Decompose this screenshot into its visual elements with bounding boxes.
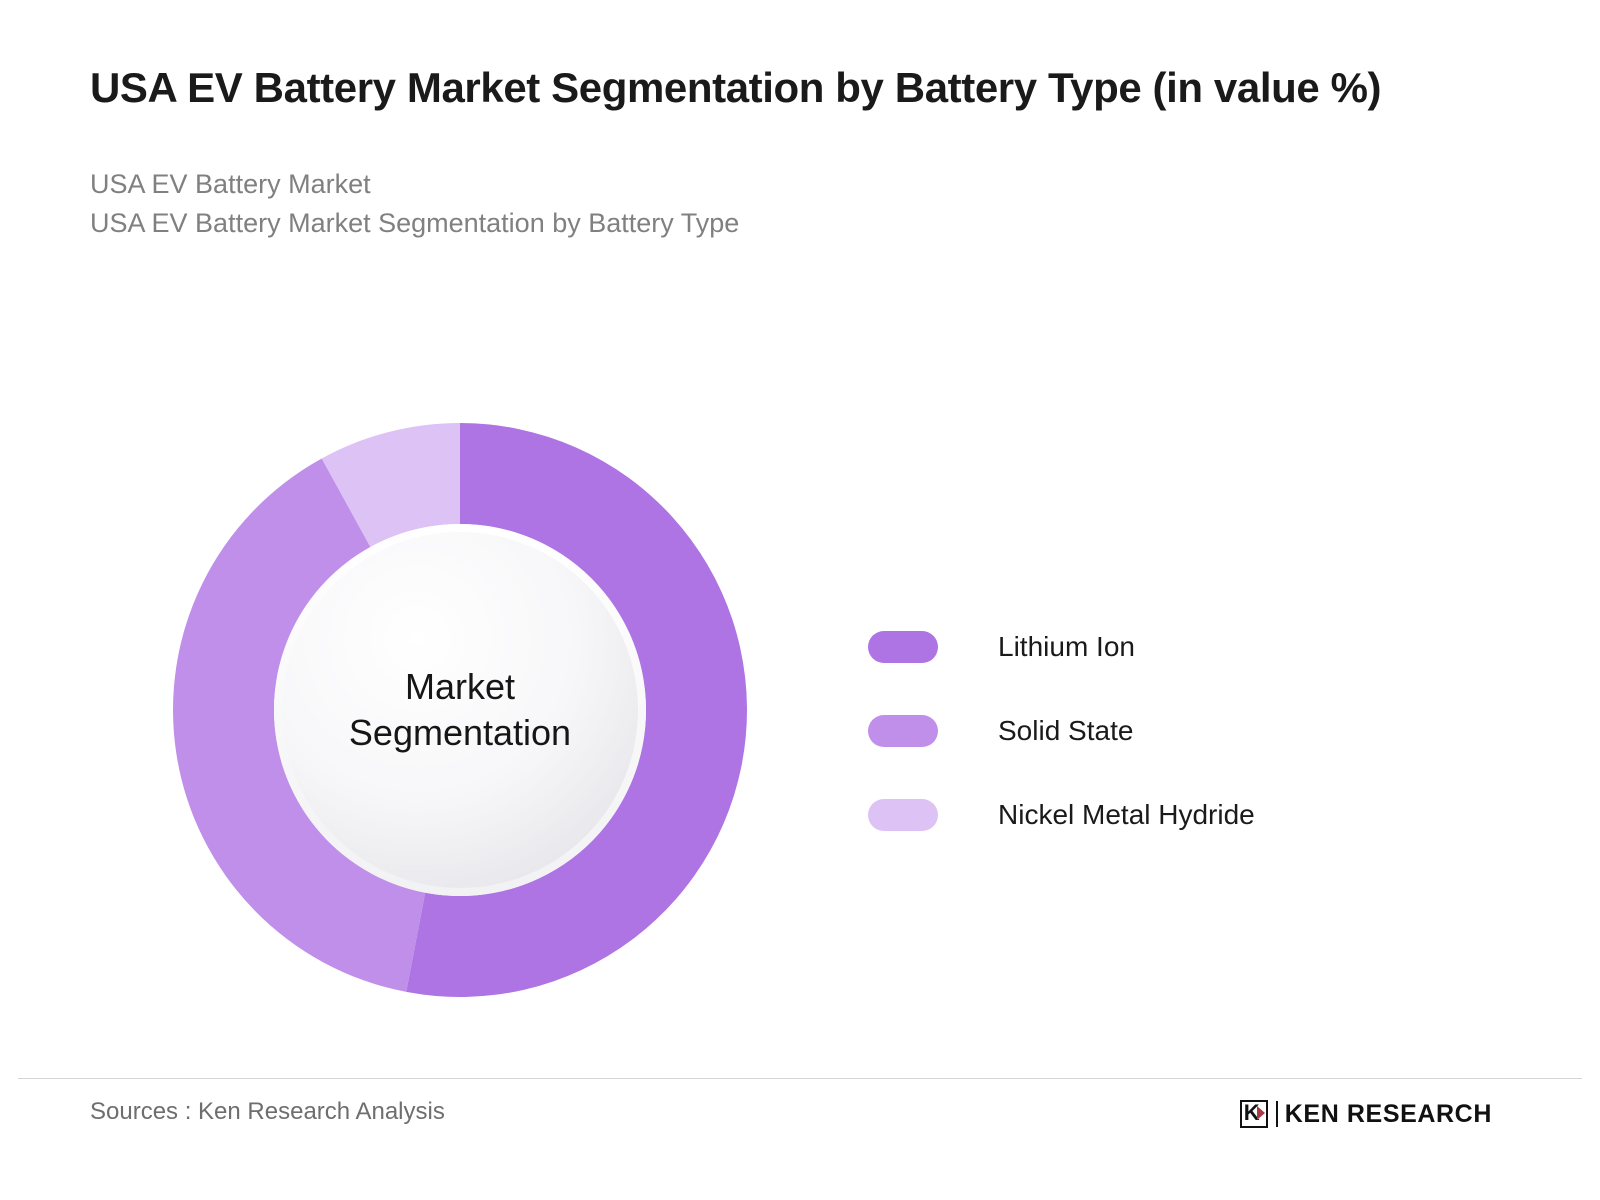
footer-sources: Sources : Ken Research Analysis (90, 1098, 445, 1126)
legend-label-nickel-metal-hydride: Nickel Metal Hydride (998, 799, 1255, 831)
ken-research-logo: K KEN RESEARCH (1240, 1098, 1492, 1130)
legend-label-lithium-ion: Lithium Ion (998, 631, 1135, 663)
subtitle-line-segmentation: USA EV Battery Market Segmentation by Ba… (90, 204, 1490, 242)
logo-wordmark: KEN RESEARCH (1285, 1100, 1492, 1129)
legend-swatch-lithium-ion (868, 631, 938, 663)
legend-label-solid-state: Solid State (998, 715, 1133, 747)
chart-area: Market Segmentation Lithium Ion Solid St… (0, 400, 1600, 1060)
logo-divider (1276, 1101, 1278, 1127)
header: USA EV Battery Market Segmentation by Ba… (90, 62, 1490, 242)
subtitle-line-market: USA EV Battery Market (90, 165, 1490, 203)
legend-swatch-solid-state (868, 715, 938, 747)
legend-item-nickel-metal-hydride[interactable]: Nickel Metal Hydride (868, 773, 1428, 857)
donut-svg (173, 423, 747, 997)
legend-swatch-nickel-metal-hydride (868, 799, 938, 831)
footer-divider (18, 1078, 1582, 1079)
chart-legend: Lithium Ion Solid State Nickel Metal Hyd… (868, 605, 1428, 857)
slide-canvas: USA EV Battery Market Segmentation by Ba… (0, 0, 1600, 1200)
donut-chart: Market Segmentation (173, 423, 747, 997)
logo-mark-accent (1257, 1106, 1265, 1120)
subtitle-block: USA EV Battery Market USA EV Battery Mar… (90, 165, 1490, 242)
donut-hub (282, 532, 638, 888)
legend-item-lithium-ion[interactable]: Lithium Ion (868, 605, 1428, 689)
page-title: USA EV Battery Market Segmentation by Ba… (90, 62, 1475, 113)
logo-k-mark-icon: K (1240, 1100, 1268, 1128)
legend-item-solid-state[interactable]: Solid State (868, 689, 1428, 773)
